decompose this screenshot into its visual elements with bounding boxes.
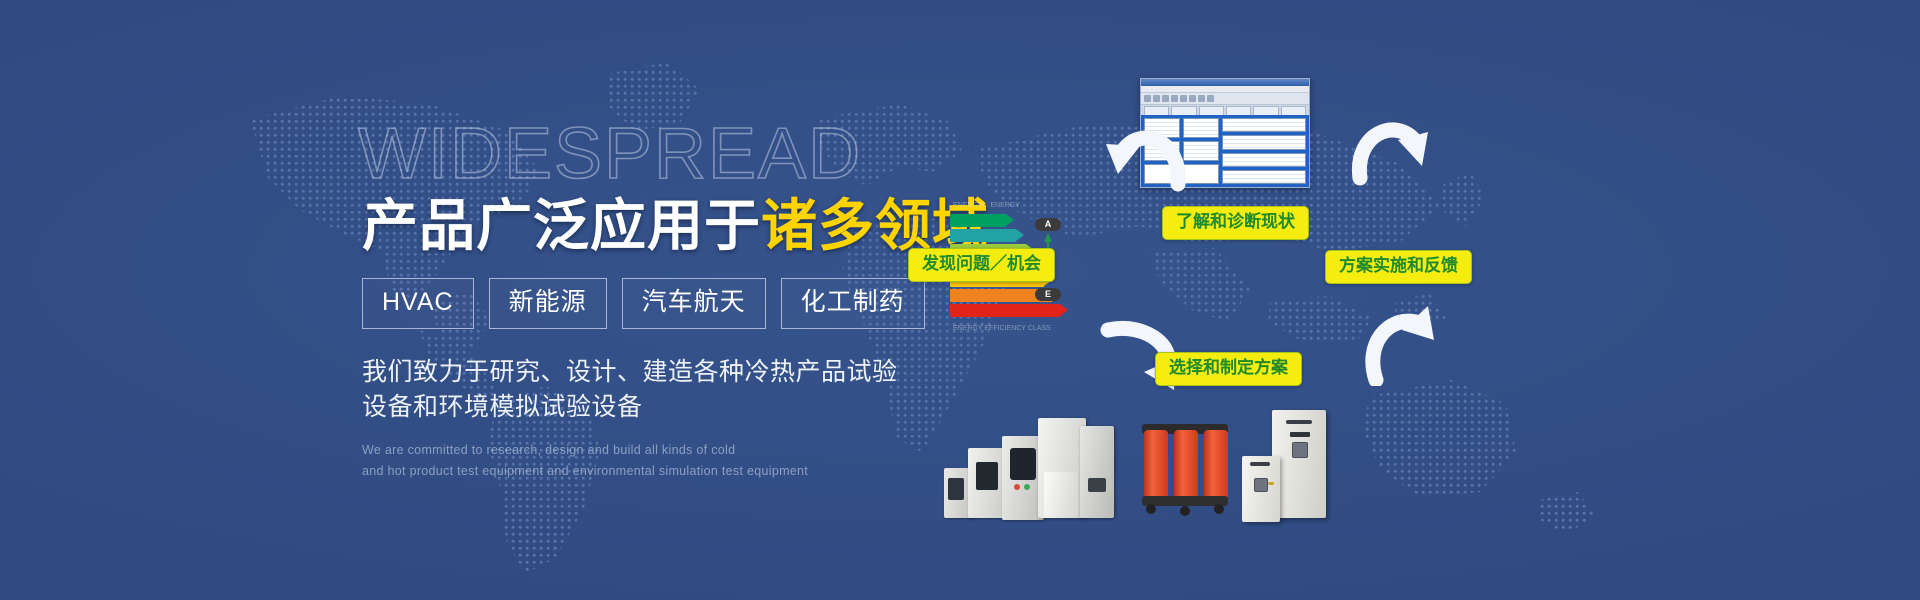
window-pane bbox=[1183, 118, 1219, 138]
window-tab-strip bbox=[1141, 105, 1309, 115]
subtitle-line-2: and hot product test equipment and envir… bbox=[362, 464, 808, 478]
cycle-step-discover[interactable]: 发现问题／机会 bbox=[908, 248, 1055, 282]
cycle-arrow-top-right-icon bbox=[1350, 108, 1434, 190]
toolbar-icon bbox=[1144, 95, 1151, 102]
chamber-brand-plate bbox=[1286, 420, 1312, 424]
hero-banner: WIDESPREAD 产品广泛应用于诸多领域 HVAC 新能源 汽车航天 化工制… bbox=[0, 0, 1920, 600]
energy-bar-g-label: G bbox=[1047, 304, 1055, 317]
window-right-column bbox=[1222, 118, 1306, 184]
toolbar-icon bbox=[1189, 95, 1196, 102]
ghost-headline: WIDESPREAD bbox=[358, 118, 922, 190]
chamber-handle bbox=[1290, 432, 1310, 437]
window-pane bbox=[1222, 135, 1306, 149]
energy-bar-b: B bbox=[950, 229, 1016, 242]
industry-tag-hvac[interactable]: HVAC bbox=[362, 278, 474, 329]
subtitle-line-1: We are committed to research, design and… bbox=[362, 443, 735, 457]
product-dry-type-transformer bbox=[1136, 416, 1240, 520]
toolbar-icon bbox=[1207, 95, 1214, 102]
window-pane bbox=[1222, 170, 1306, 184]
window-tab bbox=[1144, 106, 1169, 115]
headline-primary: 产品广泛应用于 bbox=[362, 194, 761, 257]
toolbar-icon bbox=[1171, 95, 1178, 102]
energy-label-bottom-caption: ENERGY EFFICIENCY CLASS bbox=[953, 325, 1051, 332]
cabinet-vent bbox=[1088, 478, 1106, 492]
toolbar-icon bbox=[1198, 95, 1205, 102]
window-menu-bar bbox=[1141, 86, 1309, 93]
cycle-step-diagnose[interactable]: 了解和诊断现状 bbox=[1162, 206, 1309, 240]
hero-description: 我们致力于研究、设计、建造各种冷热产品试验设备和环境模拟试验设备 bbox=[362, 355, 902, 424]
transformer-coil bbox=[1144, 430, 1168, 500]
chamber-brand-plate bbox=[1250, 462, 1270, 466]
window-tab bbox=[1171, 106, 1196, 115]
window-pane bbox=[1222, 153, 1306, 167]
toolbar-icon bbox=[1153, 95, 1160, 102]
transformer-wheel bbox=[1180, 506, 1190, 516]
energy-bar-a: A bbox=[950, 214, 1006, 227]
page-title: 产品广泛应用于诸多领域 bbox=[362, 196, 922, 256]
cabinet-door bbox=[1044, 472, 1078, 518]
chamber-control-panel bbox=[1292, 442, 1308, 458]
window-tab bbox=[1199, 106, 1224, 115]
window-pane bbox=[1183, 141, 1219, 161]
toolbar-icon bbox=[1162, 95, 1169, 102]
indicator-light bbox=[1024, 484, 1030, 490]
industry-tag-automotive-aerospace[interactable]: 汽车航天 bbox=[622, 278, 766, 329]
cabinet-unit bbox=[1080, 426, 1114, 518]
energy-current-class-pill: A bbox=[1035, 218, 1061, 231]
cabinet-display bbox=[1010, 448, 1036, 480]
window-pane bbox=[1183, 164, 1219, 184]
energy-bar-a-label: A bbox=[994, 214, 1001, 227]
window-tab bbox=[1281, 106, 1306, 115]
chamber-handle bbox=[1268, 482, 1274, 485]
chamber-control-panel bbox=[1254, 478, 1268, 492]
cabinet-display bbox=[976, 462, 998, 490]
industry-tag-new-energy[interactable]: 新能源 bbox=[489, 278, 607, 329]
transformer-wheel bbox=[1146, 504, 1156, 514]
industry-tag-list: HVAC 新能源 汽车航天 化工制药 bbox=[362, 278, 922, 329]
cycle-step-feedback[interactable]: 方案实施和反馈 bbox=[1325, 250, 1472, 284]
window-title-bar bbox=[1141, 79, 1309, 86]
indicator-light bbox=[1014, 484, 1020, 490]
product-test-chambers bbox=[1240, 408, 1336, 526]
window-toolbar bbox=[1141, 93, 1309, 105]
transformer-coil bbox=[1204, 430, 1228, 500]
transformer-wheel bbox=[1214, 504, 1224, 514]
energy-label-top-caption: ENERGIA · ENERGY bbox=[953, 202, 1020, 209]
cycle-step-plan[interactable]: 选择和制定方案 bbox=[1155, 352, 1302, 386]
cycle-arrow-top-left-icon bbox=[1100, 118, 1186, 198]
window-tab bbox=[1253, 106, 1278, 115]
window-middle-column bbox=[1183, 118, 1219, 184]
window-tab bbox=[1226, 106, 1251, 115]
energy-reference-class-pill: E bbox=[1035, 288, 1061, 301]
test-chamber-large bbox=[1272, 410, 1326, 518]
energy-bar-g: G bbox=[950, 304, 1060, 317]
cycle-arrow-bottom-right-icon bbox=[1358, 300, 1440, 386]
cabinet-display bbox=[948, 478, 964, 500]
hero-subtitle-english: We are committed to research, design and… bbox=[362, 440, 922, 481]
hero-text-column: WIDESPREAD 产品广泛应用于诸多领域 HVAC 新能源 汽车航天 化工制… bbox=[362, 118, 922, 482]
window-pane bbox=[1222, 118, 1306, 132]
toolbar-icon bbox=[1180, 95, 1187, 102]
transformer-coil bbox=[1174, 430, 1198, 500]
product-control-cabinets bbox=[938, 412, 1120, 524]
process-cycle-graphic: ENERGIA · ENERGY A B C D E F G A E ENERG… bbox=[900, 0, 1920, 600]
energy-bar-b-label: B bbox=[1004, 229, 1011, 242]
